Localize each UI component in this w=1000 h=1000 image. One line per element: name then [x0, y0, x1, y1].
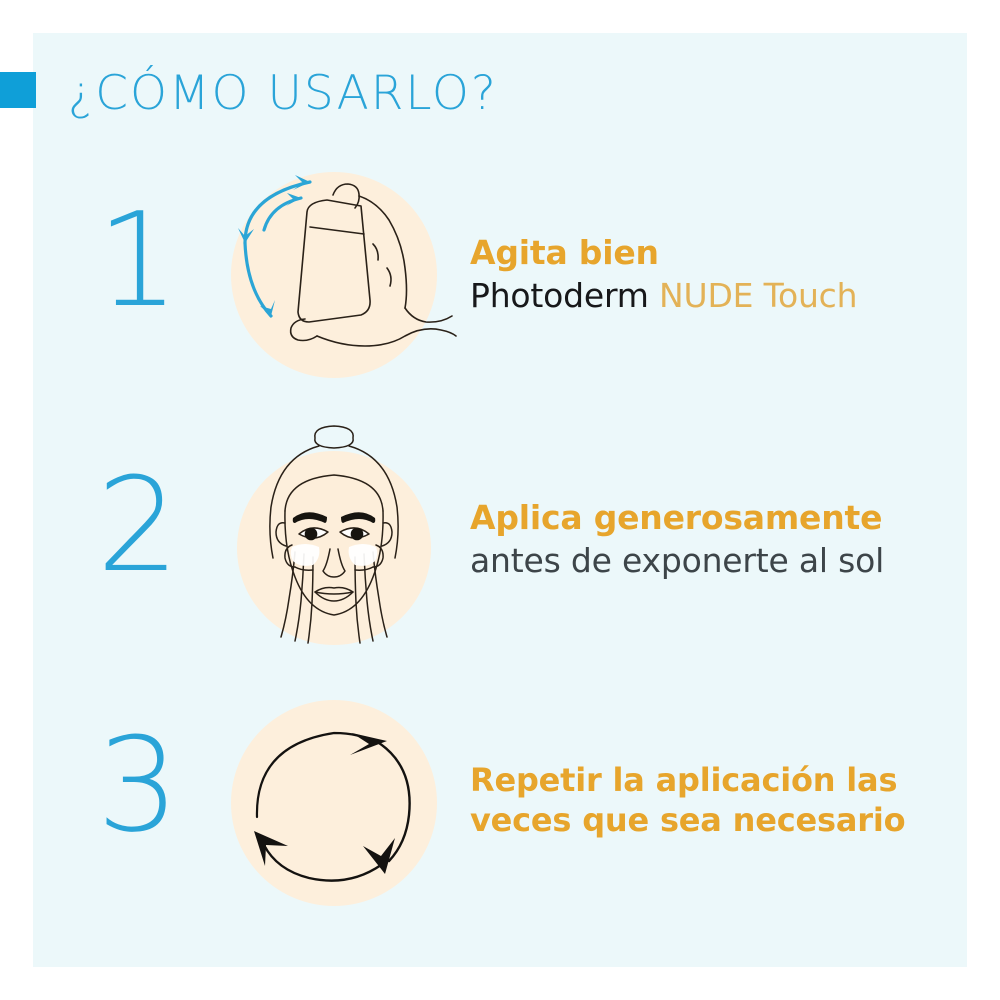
step-3-headline: Repetir la aplicación las	[470, 760, 970, 800]
step-number-2: 2	[78, 455, 198, 595]
step-2-subline: antes de exponerte al sol	[470, 539, 970, 583]
step-row-2: 2	[33, 405, 967, 675]
woman-applying-cream-face-illustration	[209, 415, 459, 665]
step-number-3: 3	[78, 715, 198, 855]
step-3-subline: veces que sea necesario	[470, 800, 970, 840]
page-title: ¿CÓMO USARLO?	[68, 62, 768, 126]
step-number-1: 1	[78, 190, 198, 330]
step-row-3: 3	[33, 665, 967, 935]
hand-shaking-bottle-illustration	[209, 150, 459, 400]
step-1-headline: Agita bien	[470, 232, 970, 274]
step-text-3: Repetir la aplicación las veces que sea …	[470, 665, 970, 935]
brand-name-photoderm: Photoderm	[470, 276, 649, 315]
step-text-2: Aplica generosamente antes de exponerte …	[470, 405, 970, 675]
step-text-1: Agita bien Photoderm NUDE Touch	[470, 140, 970, 410]
step-row-1: 1	[33, 140, 967, 410]
step-1-subline: Photoderm NUDE Touch	[470, 274, 970, 318]
brand-name-nude-touch: NUDE Touch	[649, 276, 858, 315]
blue-accent-square	[0, 72, 36, 108]
circular-repeat-arrows-illustration	[209, 675, 459, 925]
infographic-canvas: ¿CÓMO USARLO? 1	[0, 0, 1000, 1000]
step-2-headline: Aplica generosamente	[470, 497, 970, 539]
